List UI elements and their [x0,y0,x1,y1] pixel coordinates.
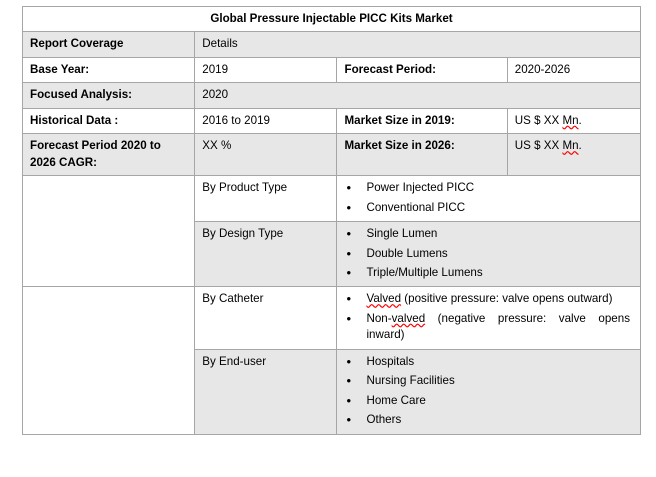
market-size-2026-suffix: . [579,139,582,152]
row-label-historical-data: Historical Data : [23,108,195,133]
segment-items-end-user: Hospitals Nursing Facilities Home Care O… [337,349,641,434]
list-item: Double Lumens [366,246,633,262]
bullet-list: Power Injected PICC Conventional PICC [344,180,633,216]
row-label-base-year: Base Year: [23,57,195,82]
list-item: Others [366,412,633,428]
bullet-list: Valved (positive pressure: valve opens o… [344,291,633,343]
list-item-label: Single Lumen [366,227,437,240]
row-value-cagr: XX % [195,134,337,176]
row-value-base-year: 2019 [195,57,337,82]
list-item-label: Others [366,413,401,426]
row-value-forecast-period: 2020-2026 [507,57,640,82]
table-row: Base Year: 2019 Forecast Period: 2020-20… [23,57,641,82]
spellcheck-word-valved: Valved [366,292,401,305]
spacer-cell-lower [23,287,195,434]
table-row: Forecast Period 2020 to 2026 CAGR: XX % … [23,134,641,176]
row-value-focused-analysis: 2020 [195,83,641,108]
market-size-2019-suffix: . [579,114,582,127]
bullet-list: Hospitals Nursing Facilities Home Care O… [344,354,633,429]
row-value-market-size-2019: US $ XX Mn. [507,108,640,133]
segment-name-catheter: By Catheter [195,287,337,349]
spellcheck-word-valved: valved [392,312,426,325]
market-size-2026-prefix: US $ XX [515,139,563,152]
market-summary-table: Global Pressure Injectable PICC Kits Mar… [22,6,641,435]
list-item: Single Lumen [366,226,633,242]
spacer-cell-upper [23,176,195,287]
market-size-2019-prefix: US $ XX [515,114,563,127]
segment-row-product-type: By Product Type Power Injected PICC Conv… [23,176,641,222]
row-label-forecast-period: Forecast Period: [337,57,507,82]
segment-items-design-type: Single Lumen Double Lumens Triple/Multip… [337,222,641,287]
list-item: Non-valved (negative pressure: valve ope… [366,311,633,344]
segment-name-design-type: By Design Type [195,222,337,287]
segment-name-end-user: By End-user [195,349,337,434]
list-item: Home Care [366,393,633,409]
list-item-prefix: Non- [366,312,391,325]
row-value-market-size-2026: US $ XX Mn. [507,134,640,176]
list-item: Nursing Facilities [366,373,633,389]
row-label-focused-analysis: Focused Analysis: [23,83,195,108]
list-item: Valved (positive pressure: valve opens o… [366,291,633,307]
row-label-market-size-2019: Market Size in 2019: [337,108,507,133]
table-header-row: Report Coverage Details [23,32,641,57]
table-row: Focused Analysis: 2020 [23,83,641,108]
list-item-label: Conventional PICC [366,201,465,214]
list-item-label: Nursing Facilities [366,374,454,387]
list-item-label: Double Lumens [366,247,447,260]
bullet-list: Single Lumen Double Lumens Triple/Multip… [344,226,633,281]
row-label-market-size-2026: Market Size in 2026: [337,134,507,176]
list-item: Conventional PICC [366,200,633,216]
document-canvas: Global Pressure Injectable PICC Kits Mar… [0,0,656,477]
list-item-label: Triple/Multiple Lumens [366,266,482,279]
header-details: Details [195,32,641,57]
list-item: Triple/Multiple Lumens [366,265,633,281]
page-title: Global Pressure Injectable PICC Kits Mar… [23,7,641,32]
spellcheck-word-mn: Mn [562,114,578,127]
list-item-label: (positive pressure: valve opens outward) [401,292,612,305]
list-item-label: Hospitals [366,355,414,368]
list-item: Hospitals [366,354,633,370]
segment-row-catheter: By Catheter Valved (positive pressure: v… [23,287,641,349]
row-label-cagr: Forecast Period 2020 to 2026 CAGR: [23,134,195,176]
spellcheck-word-mn: Mn [562,139,578,152]
list-item-label: Home Care [366,394,425,407]
row-value-historical-data: 2016 to 2019 [195,108,337,133]
list-item-label: Power Injected PICC [366,181,474,194]
table-title-row: Global Pressure Injectable PICC Kits Mar… [23,7,641,32]
list-item: Power Injected PICC [366,180,633,196]
segment-items-product-type: Power Injected PICC Conventional PICC [337,176,641,222]
table-row: Historical Data : 2016 to 2019 Market Si… [23,108,641,133]
header-report-coverage: Report Coverage [23,32,195,57]
segment-items-catheter: Valved (positive pressure: valve opens o… [337,287,641,349]
segment-name-product-type: By Product Type [195,176,337,222]
